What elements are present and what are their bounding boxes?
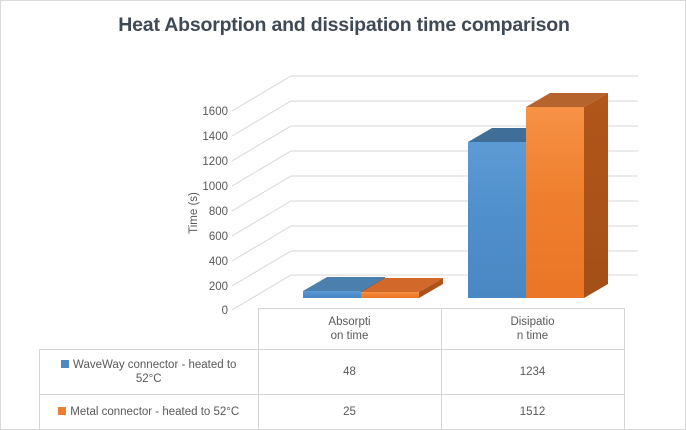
y-tick-800: 800 <box>209 206 228 218</box>
cell-metal-absorption: 25 <box>258 395 441 430</box>
legend-item-waveway[interactable]: WaveWay connector - heated to 52°C <box>40 350 259 395</box>
legend-label-waveway-line2: 52°C <box>44 372 254 386</box>
data-table: Absorpti on time Disipatio n time WaveWa… <box>39 308 625 430</box>
legend-swatch-orange-icon <box>58 407 66 415</box>
y-tick-600: 600 <box>209 231 228 243</box>
chart-container: Heat Absorption and dissipation time com… <box>0 0 686 430</box>
legend-label-waveway-line1: WaveWay connector - heated to <box>73 359 236 371</box>
table-header-absorption-line2: on time <box>263 329 437 343</box>
legend-label-metal: Metal connector - heated to 52°C <box>70 406 239 418</box>
legend-swatch-blue-icon <box>61 360 69 368</box>
y-axis-labels: 1600 1400 1200 1000 800 600 400 200 0 <box>202 106 228 317</box>
table-corner-cell <box>40 309 259 350</box>
table-header-absorption-line1: Absorpti <box>263 315 437 329</box>
table-header-disipation: Disipatio n time <box>441 309 624 350</box>
cell-waveway-disipation: 1234 <box>441 350 624 395</box>
table-header-row: Absorpti on time Disipatio n time <box>40 309 625 350</box>
y-tick-400: 400 <box>209 256 228 268</box>
table-header-disipation-line1: Disipatio <box>446 315 620 329</box>
cell-waveway-absorption: 48 <box>258 350 441 395</box>
y-tick-1400: 1400 <box>202 131 228 143</box>
legend-item-metal[interactable]: Metal connector - heated to 52°C <box>40 395 259 430</box>
y-tick-200: 200 <box>209 281 228 293</box>
bar-metal-disipation[interactable] <box>526 93 608 298</box>
table-row: WaveWay connector - heated to 52°C 48 12… <box>40 350 625 395</box>
table-row: Metal connector - heated to 52°C 25 1512 <box>40 395 625 430</box>
y-tick-1000: 1000 <box>202 181 228 193</box>
table-header-absorption: Absorpti on time <box>258 309 441 350</box>
cell-metal-disipation: 1512 <box>441 395 624 430</box>
table-header-disipation-line2: n time <box>446 329 620 343</box>
y-tick-1200: 1200 <box>202 156 228 168</box>
y-axis-title: Time (s) <box>188 192 200 234</box>
y-tick-1600: 1600 <box>202 106 228 118</box>
